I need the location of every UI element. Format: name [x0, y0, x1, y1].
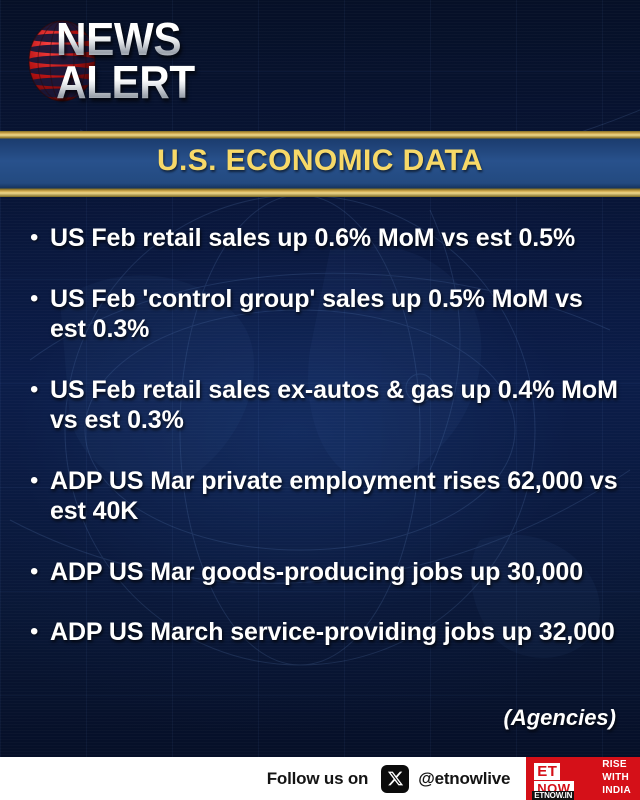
- news-word: NEWS: [56, 19, 195, 59]
- list-item-text: ADP US March service-providing jobs up 3…: [50, 617, 618, 648]
- news-alert-wordmark: NEWS ALERT: [56, 19, 207, 103]
- social-handle[interactable]: @etnowlive: [418, 769, 510, 789]
- source-credit: (Agencies): [504, 705, 616, 731]
- list-item-text: US Feb 'control group' sales up 0.5% MoM…: [50, 284, 618, 345]
- etnow-mark: ET NOW ETNOW.IN: [532, 757, 594, 800]
- follow-us-label: Follow us on: [267, 769, 368, 789]
- bullet-dot-icon: •: [30, 557, 50, 587]
- bullet-dot-icon: •: [30, 223, 50, 253]
- alert-word: ALERT: [56, 62, 195, 102]
- etnow-tagline: RISE WITH INDIA: [594, 757, 640, 800]
- list-item: • US Feb 'control group' sales up 0.5% M…: [30, 284, 618, 345]
- list-item-text: US Feb retail sales ex-autos & gas up 0.…: [50, 375, 618, 436]
- tagline-line-3: INDIA: [602, 785, 631, 798]
- etnow-logo[interactable]: ET NOW ETNOW.IN RISE WITH INDIA: [526, 757, 640, 800]
- bullet-dot-icon: •: [30, 375, 50, 405]
- bullet-dot-icon: •: [30, 617, 50, 647]
- footer-bar: Follow us on @etnowlive ET NOW ETNOW.IN …: [0, 757, 640, 800]
- tagline-line-1: RISE: [602, 759, 631, 772]
- list-item: • ADP US Mar goods-producing jobs up 30,…: [30, 557, 618, 588]
- etnow-url: ETNOW.IN: [532, 791, 574, 800]
- page-title: U.S. ECONOMIC DATA: [0, 144, 640, 178]
- tagline-line-2: WITH: [602, 772, 631, 785]
- list-item-text: ADP US Mar goods-producing jobs up 30,00…: [50, 557, 618, 588]
- bullet-dot-icon: •: [30, 284, 50, 314]
- list-item-text: ADP US Mar private employment rises 62,0…: [50, 466, 618, 527]
- bullet-dot-icon: •: [30, 466, 50, 496]
- list-item: • US Feb retail sales ex-autos & gas up …: [30, 375, 618, 436]
- x-twitter-icon[interactable]: [381, 765, 409, 793]
- etnow-et-word: ET: [534, 763, 560, 780]
- list-item: • US Feb retail sales up 0.6% MoM vs est…: [30, 223, 618, 254]
- headline-band: U.S. ECONOMIC DATA: [0, 131, 640, 197]
- list-item-text: US Feb retail sales up 0.6% MoM vs est 0…: [50, 223, 618, 254]
- bullet-list: • US Feb retail sales up 0.6% MoM vs est…: [0, 205, 640, 705]
- list-item: • ADP US Mar private employment rises 62…: [30, 466, 618, 527]
- news-alert-header: NEWS ALERT: [0, 0, 640, 131]
- news-alert-graphic: NEWS ALERT U.S. ECONOMIC DATA • US Feb r…: [0, 0, 640, 800]
- list-item: • ADP US March service-providing jobs up…: [30, 617, 618, 648]
